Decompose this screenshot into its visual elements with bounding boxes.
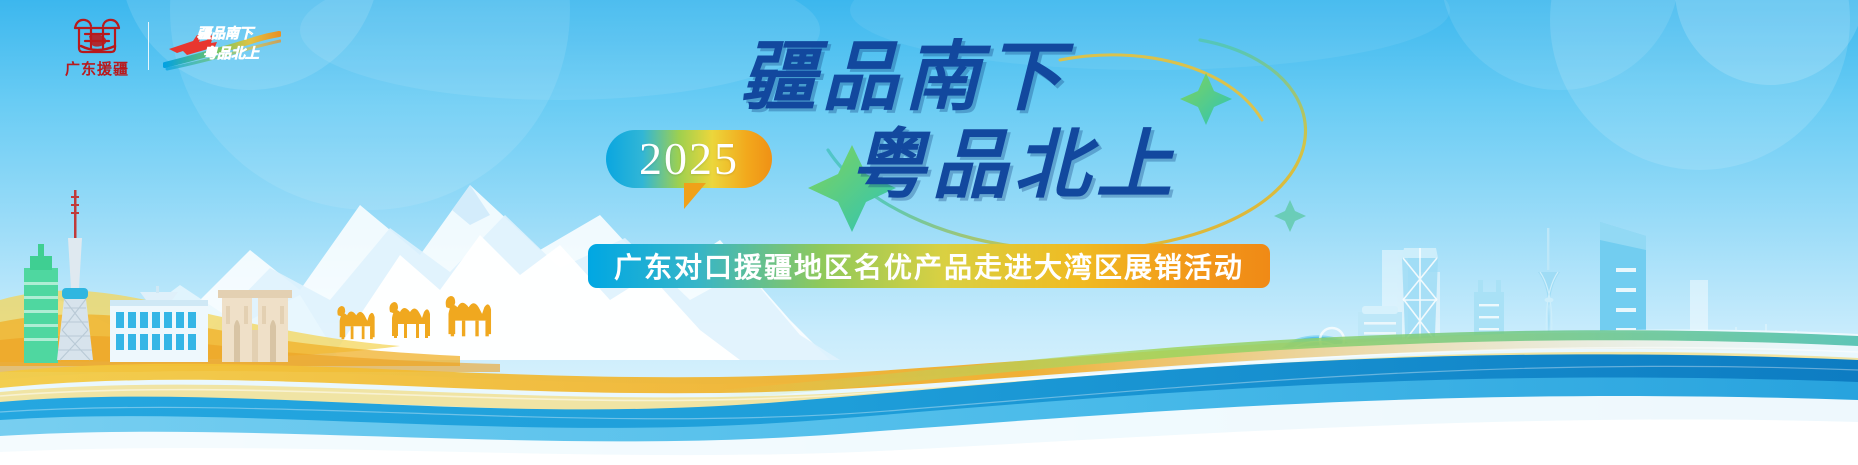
event-logo-line2: 粤品北上 (203, 43, 259, 63)
subtitle-text: 广东对口援疆地区名优产品走进大湾区展销活动 (614, 246, 1244, 286)
subtitle-ribbon: 广东对口援疆地区名优产品走进大湾区展销活动 (588, 244, 1270, 288)
headline: 疆品南下 粤品北上 (740, 38, 1300, 204)
guangdong-yue-seal-icon (67, 12, 127, 56)
headline-line2: 粤品北上 (850, 126, 1300, 204)
org-name: 广东援疆 (65, 58, 129, 79)
event-logo: 疆品南下 粤品北上 (163, 21, 281, 71)
guangdong-aid-xinjiang-logo: 广东援疆 (60, 12, 134, 79)
event-logo-line1: 疆品南下 (197, 23, 253, 43)
year-badge: 2025 (606, 130, 772, 188)
promotional-banner: 广东援疆 疆品南下 粤品北上 疆品南下 粤 (0, 0, 1858, 465)
four-point-star-icon (1274, 200, 1306, 232)
headline-line1: 疆品南下 (740, 38, 1300, 116)
vertical-divider-icon (148, 22, 149, 70)
logo-block: 广东援疆 疆品南下 粤品北上 (60, 12, 281, 79)
year-badge-tail-icon (684, 183, 706, 209)
year-value: 2025 (639, 136, 739, 182)
